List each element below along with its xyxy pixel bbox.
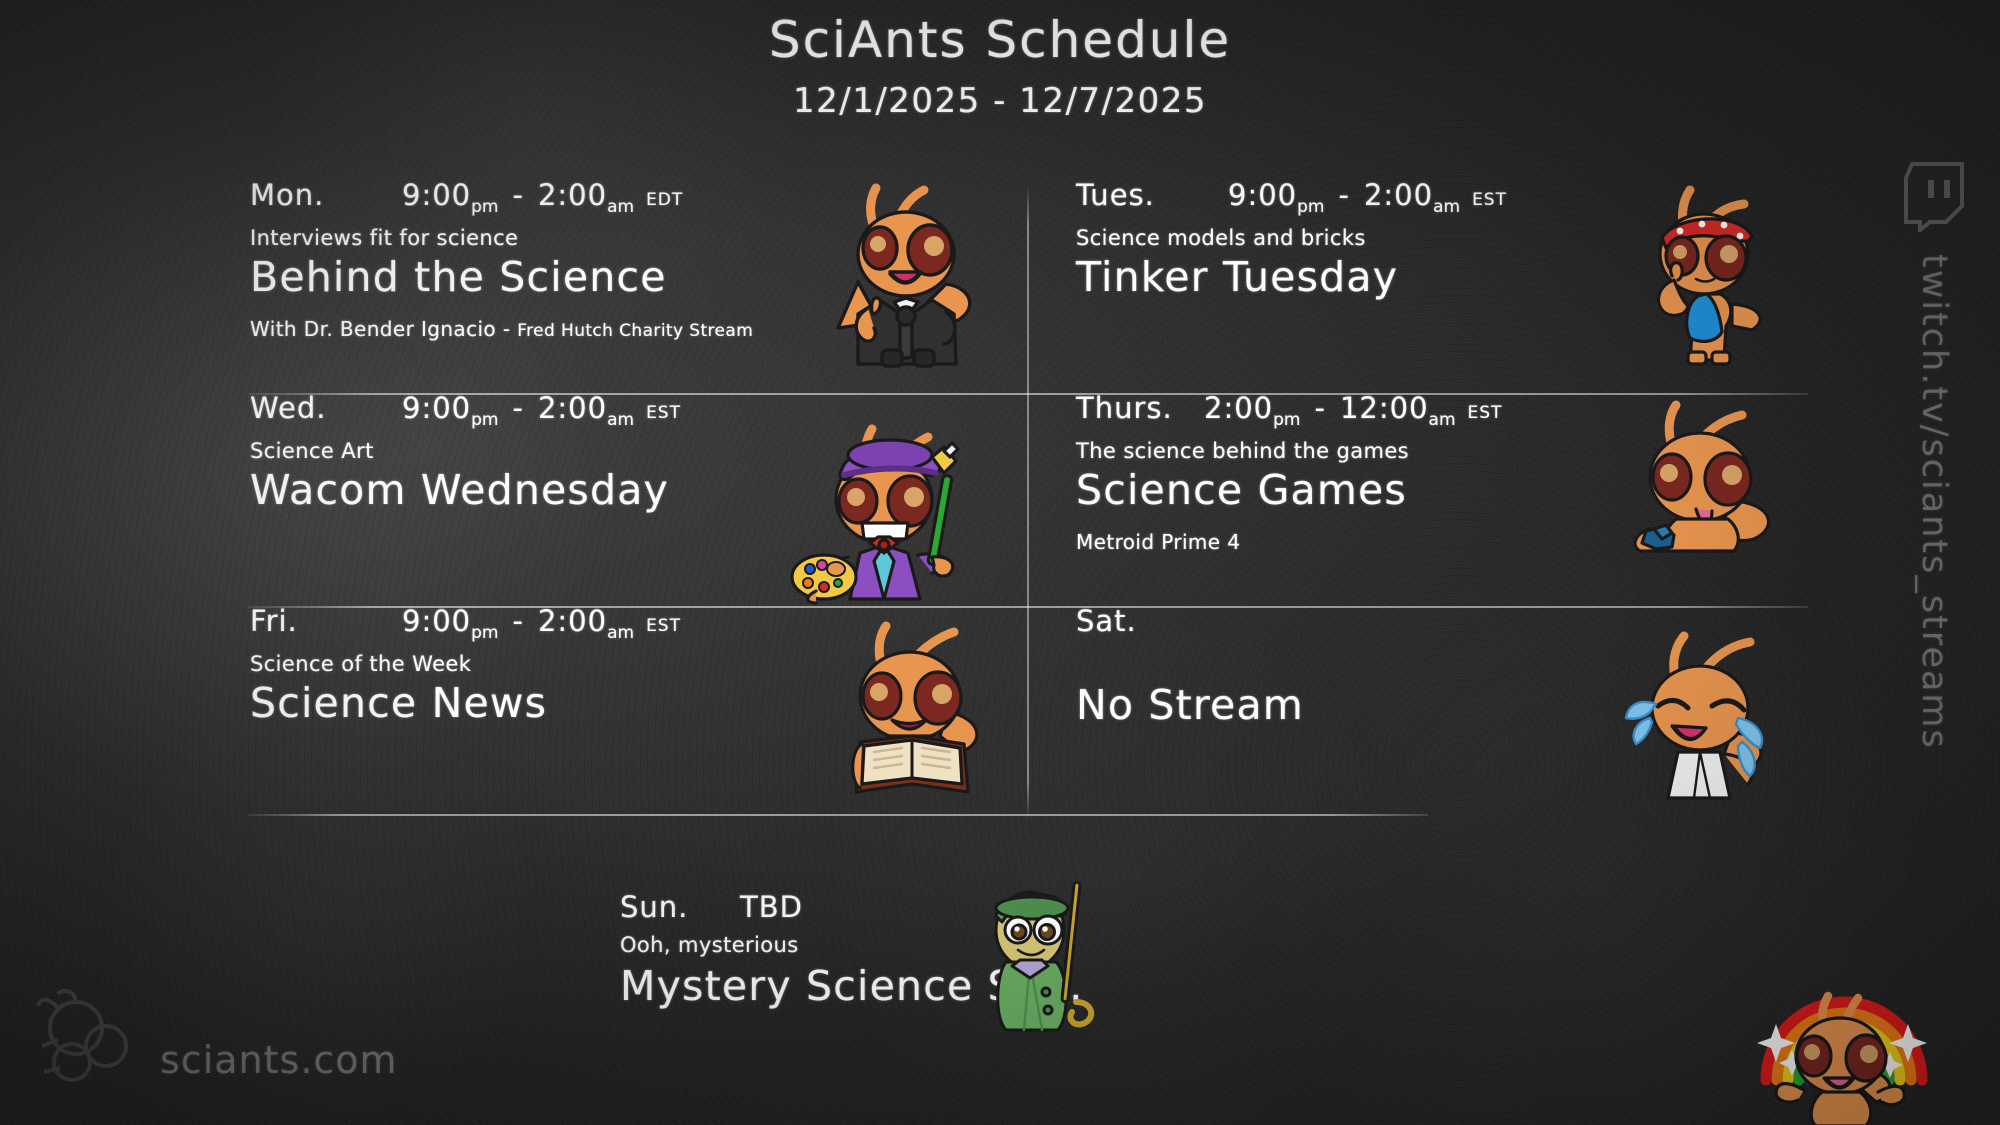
schedule-cell-wednesday[interactable]: Wed. 9:00pm - 2:00am EST Science Art Wac… [248,391,1028,604]
time-start: 9:00pm [402,604,498,643]
mascot-suit-microphone-ant [828,172,988,368]
schedule-cell-sunday[interactable]: Sun. TBD Ooh, mysterious Mystery Science… [620,890,1380,1010]
time-dash: - [512,604,523,638]
time-start: 9:00pm [402,178,498,217]
mascot-rainbow-ant [1748,962,1938,1125]
timezone-label: EST [646,616,681,636]
day-label: Sat. [1076,604,1228,638]
schedule-cell-monday[interactable]: Mon. 9:00pm - 2:00am EDT Interviews fit … [248,178,1028,391]
time-dash: - [512,178,523,212]
day-label: Mon. [250,178,402,212]
time-start: 9:00pm [402,391,498,430]
timezone-label: EST [1468,403,1503,423]
schedule-board: SciAnts Schedule 12/1/2025 - 12/7/2025 M… [0,0,2000,1125]
time-start: 9:00pm [1228,178,1324,217]
time-dash: - [1338,178,1349,212]
schedule-row: Wed. 9:00pm - 2:00am EST Science Art Wac… [248,391,1808,604]
day-label: Sun. [620,890,740,924]
day-label: Thurs. [1076,391,1204,425]
day-label: Tues. [1076,178,1228,212]
time-end: 12:00am [1340,391,1456,430]
timezone-label: EDT [646,190,683,210]
day-label: Wed. [250,391,402,425]
schedule-row: Mon. 9:00pm - 2:00am EDT Interviews fit … [248,178,1808,391]
header: SciAnts Schedule 12/1/2025 - 12/7/2025 [0,14,2000,121]
schedule-cell-friday[interactable]: Fri. 9:00pm - 2:00am EST Science of the … [248,604,1028,817]
time-start: 2:00pm [1204,391,1300,430]
schedule-grid: Mon. 9:00pm - 2:00am EDT Interviews fit … [248,178,1808,868]
timezone-label: EST [1472,190,1507,210]
schedule-cell-thursday[interactable]: Thurs. 2:00pm - 12:00am EST The science … [1028,391,1808,604]
time-label: TBD [740,890,803,924]
twitch-watermark[interactable]: twitch.tv/sciants_streams [1874,160,1994,750]
mascot-rosie-riveter-ant [1628,176,1786,366]
time-end: 2:00am [538,178,634,217]
website-label[interactable]: sciants.com [160,1038,398,1082]
day-label: Fri. [250,604,402,638]
sciants-ant-logo-icon [34,988,144,1102]
schedule-cell-saturday[interactable]: Sat. No Stream [1028,604,1808,817]
schedule-cell-tuesday[interactable]: Tues. 9:00pm - 2:00am EST Science models… [1028,178,1808,391]
time-end: 2:00am [538,391,634,430]
mascot-painter-ant [786,417,976,607]
date-range: 12/1/2025 - 12/7/2025 [0,81,2000,121]
twitch-url-label[interactable]: twitch.tv/sciants_streams [1914,254,1954,750]
time-dash: - [1314,391,1325,425]
twitch-glitch-icon [1902,160,1966,236]
time-dash: - [512,391,523,425]
page-title: SciAnts Schedule [0,14,2000,67]
mascot-book-reading-ant [828,616,998,796]
timezone-label: EST [646,403,681,423]
mascot-detective-caterpillar [972,874,1102,1034]
schedule-row: Fri. 9:00pm - 2:00am EST Science of the … [248,604,1808,817]
time-end: 2:00am [538,604,634,643]
mascot-gamer-ant [1616,393,1796,553]
mascot-crying-ant [1616,626,1792,802]
time-end: 2:00am [1364,178,1460,217]
